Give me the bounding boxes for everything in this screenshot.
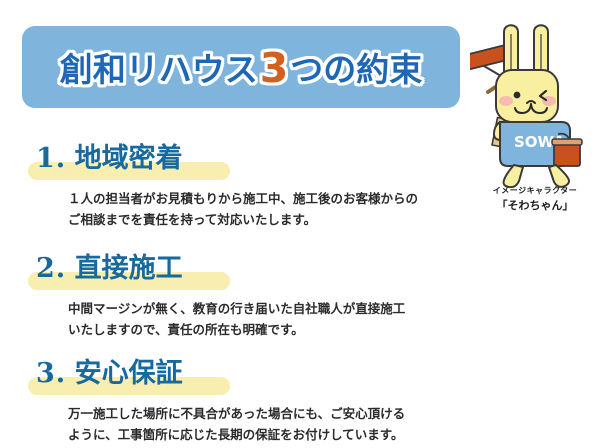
- promise-heading-3: 3. 安心保証: [28, 357, 600, 397]
- promise-number-2: 2: [36, 253, 56, 284]
- promise-title-1: 地域密着: [75, 143, 183, 174]
- promise-section-3: 3. 安心保証 万一施工した場所に不具合があった場合にも、ご安心頂ける ように、…: [0, 357, 600, 445]
- promise-number-1: 1: [36, 143, 56, 174]
- mascot-illustration: SOWA: [470, 18, 600, 188]
- promise-body-3: 万一施工した場所に不具合があった場合にも、ご安心頂ける ように、工事箇所に応じた…: [68, 403, 488, 445]
- banner-promise-count: 3: [258, 44, 291, 92]
- promise-heading-2: 2. 直接施工: [28, 252, 600, 292]
- promise-body-1: １人の担当者がお見積もりから施工中、施工後のお客様からの ご相談までを責任を持っ…: [68, 188, 488, 230]
- promise-body-2: 中間マージンが無く、教育の行き届いた自社職人が直接施工 いたしますので、責任の所…: [68, 298, 488, 340]
- promise-title-2: 直接施工: [75, 253, 183, 284]
- banner-title: 創和リハウス3つの約束: [22, 26, 460, 108]
- promise-heading-text-2: 2. 直接施工: [36, 252, 183, 286]
- promise-number-3: 3: [36, 358, 56, 389]
- promise-separator-1: .: [56, 143, 65, 174]
- paint-bucket-icon: [552, 134, 582, 166]
- header-banner: 創和リハウス3つの約束: [22, 26, 460, 108]
- promise-heading-text-3: 3. 安心保証: [36, 357, 183, 391]
- blush-left-icon: [499, 96, 513, 106]
- promise-separator-2: .: [56, 253, 65, 284]
- mascot-caption: イメージキャラクター 「そわちゃん」: [470, 184, 600, 214]
- promise-section-2: 2. 直接施工 中間マージンが無く、教育の行き届いた自社職人が直接施工 いたしま…: [0, 252, 600, 340]
- banner-title-before: 創和リハウス: [60, 43, 258, 91]
- eye-left-icon: [514, 92, 521, 99]
- promise-separator-3: .: [56, 358, 65, 389]
- mascot-caption-label: イメージキャラクター: [470, 184, 600, 197]
- promotional-poster: 創和リハウス3つの約束 1. 地域密着 １人の担当者がお見積もりから施工中、施工…: [0, 0, 600, 448]
- promise-heading-text-1: 1. 地域密着: [36, 142, 183, 176]
- promise-title-3: 安心保証: [75, 358, 183, 389]
- mascot-caption-name: 「そわちゃん」: [470, 198, 600, 214]
- rabbit-head-icon: [496, 70, 558, 122]
- banner-title-after: つの約束: [290, 43, 422, 91]
